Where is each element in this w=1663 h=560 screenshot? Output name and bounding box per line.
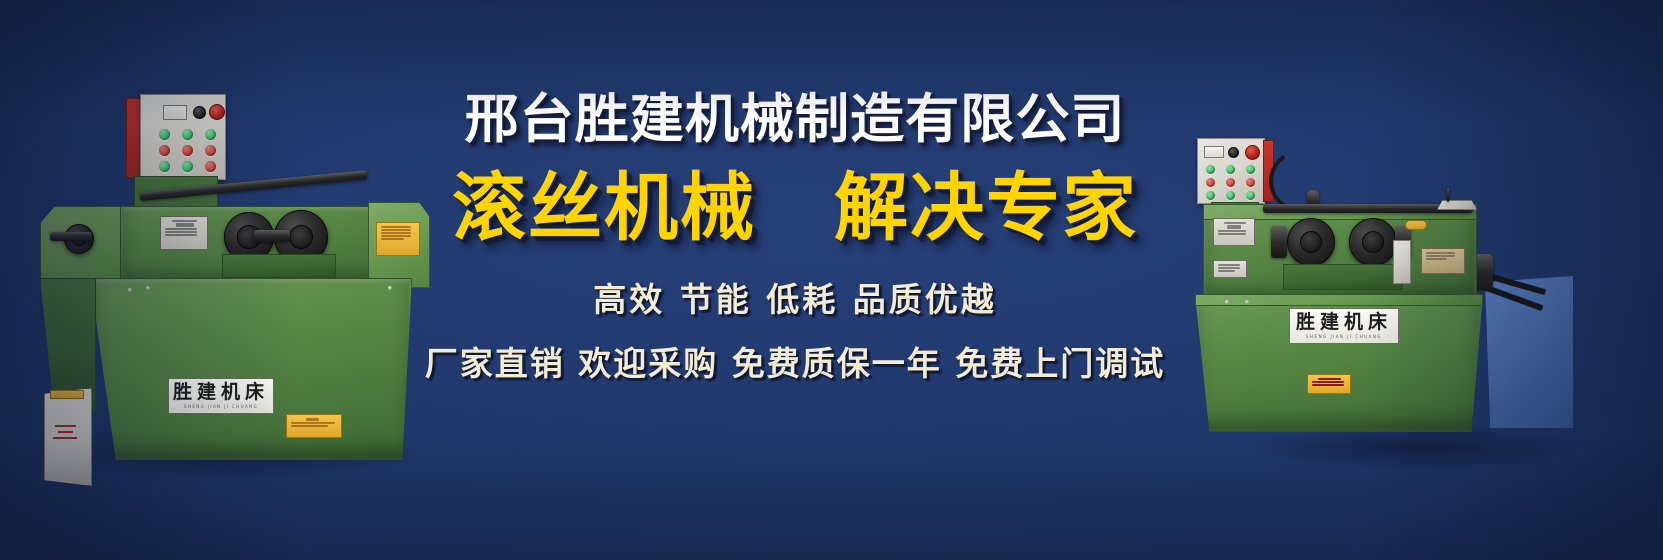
- control-button-red[interactable]: [1226, 178, 1235, 187]
- machine-base-top: [1195, 294, 1483, 306]
- warning-label: [1307, 374, 1351, 394]
- info-plate: [1421, 248, 1465, 274]
- brand-nameplate: 胜建机床 SHENG JIAN JI CHUANG: [168, 378, 274, 414]
- control-button-green[interactable]: [1246, 165, 1255, 174]
- control-button-green[interactable]: [182, 161, 193, 172]
- subtitle-line-2: 厂家直销 欢迎采购 免费质保一年 免费上门调试: [400, 337, 1190, 385]
- control-button-green[interactable]: [159, 129, 170, 140]
- cabinet-top-label: [50, 390, 84, 399]
- promo-banner: 胜建机床 SHENG JIAN JI CHUANG: [0, 0, 1663, 560]
- headline-left: 滚丝机械: [452, 170, 756, 248]
- control-button-green[interactable]: [1226, 165, 1235, 174]
- die-connecting-shaft: [254, 230, 290, 242]
- control-button-red[interactable]: [159, 145, 170, 156]
- cabinet-warning-label: [50, 418, 80, 446]
- die-support-block: [222, 254, 336, 278]
- die-support-block: [1283, 264, 1403, 290]
- terminal-block: [1405, 220, 1427, 230]
- thread-rolling-machine-right: 胜建机床 SHENG JIAN JI CHUANG: [1165, 128, 1635, 468]
- thread-rolling-machine-left: 胜建机床 SHENG JIAN JI CHUANG: [28, 88, 428, 478]
- feeder-actuator: [1393, 240, 1411, 284]
- nameplate-text-cn: 胜建机床: [173, 383, 269, 402]
- brand-nameplate: 胜建机床 SHENG JIAN JI CHUANG: [1289, 308, 1399, 344]
- spec-plate: [1213, 218, 1255, 246]
- control-button-red[interactable]: [205, 145, 216, 156]
- nameplate-text-pinyin: SHENG JIAN JI CHUANG: [1306, 335, 1382, 339]
- drive-shaft: [50, 232, 92, 241]
- blue-conveyor-unit: [1485, 276, 1573, 428]
- headline-right: 解决专家: [834, 170, 1138, 248]
- control-button-green[interactable]: [159, 161, 170, 172]
- control-panel-right: [1197, 138, 1265, 204]
- display-meter-icon: [1204, 146, 1224, 158]
- warning-label: [286, 414, 342, 438]
- machine-base: [90, 278, 412, 460]
- control-button-red[interactable]: [182, 145, 193, 156]
- control-button-green[interactable]: [182, 129, 193, 140]
- display-meter-icon: [163, 105, 187, 120]
- nameplate-text-pinyin: SHENG JIAN JI CHUANG: [184, 405, 258, 409]
- selector-knob-icon[interactable]: [193, 106, 206, 119]
- selector-knob-icon[interactable]: [1228, 147, 1239, 158]
- nameplate-text-cn: 胜建机床: [1296, 313, 1392, 332]
- rolling-die-head-right: [1349, 218, 1397, 266]
- emergency-stop-button[interactable]: [209, 104, 225, 120]
- control-button-green[interactable]: [1246, 191, 1255, 200]
- control-button-green[interactable]: [1206, 165, 1215, 174]
- rolling-die-head-left: [1287, 218, 1335, 266]
- subtitle-line-1: 高效 节能 低耗 品质优越: [400, 273, 1190, 321]
- company-name: 邢台胜建机械制造有限公司: [392, 92, 1198, 148]
- control-button-green[interactable]: [1226, 191, 1235, 200]
- control-panel-left: [140, 94, 226, 180]
- control-button-red[interactable]: [205, 161, 216, 172]
- control-button-red[interactable]: [1246, 178, 1255, 187]
- control-button-green[interactable]: [1206, 191, 1215, 200]
- serial-plate: [1213, 260, 1247, 278]
- banner-text-block: 邢台胜建机械制造有限公司 滚丝机械 解决专家 高效 节能 低耗 品质优越 厂家直…: [400, 92, 1190, 385]
- emergency-stop-button[interactable]: [1245, 145, 1260, 160]
- control-button-red[interactable]: [1206, 178, 1215, 187]
- tray-post: [1447, 188, 1449, 202]
- loading-tray: [1437, 200, 1477, 210]
- headline-row: 滚丝机械 解决专家: [400, 170, 1190, 248]
- die-clamp-left: [1271, 226, 1287, 258]
- spec-plate: [160, 216, 208, 250]
- control-button-green[interactable]: [205, 129, 216, 140]
